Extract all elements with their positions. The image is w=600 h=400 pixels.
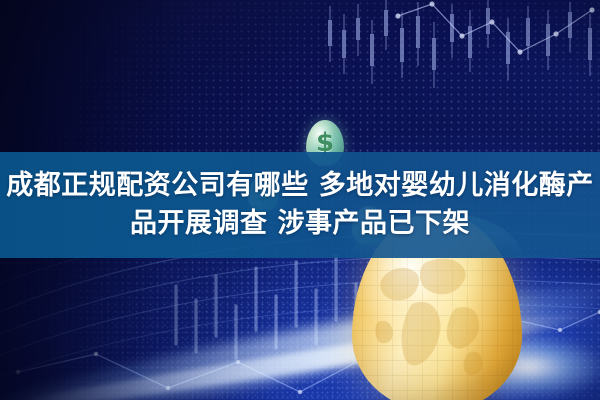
headline-line-1: 成都正规配资公司有哪些 多地对婴幼儿消化酶产 <box>6 168 593 204</box>
headline-text-block: 成都正规配资公司有哪些 多地对婴幼儿消化酶产 品开展调查 涉事产品已下架 <box>0 152 600 258</box>
news-banner-image: $ $ $ 成都正规配资公司有哪些 多地对婴幼儿消化酶产 品开展调查 涉事产品已… <box>0 0 600 400</box>
headline-line-2: 品开展调查 涉事产品已下架 <box>130 206 470 242</box>
